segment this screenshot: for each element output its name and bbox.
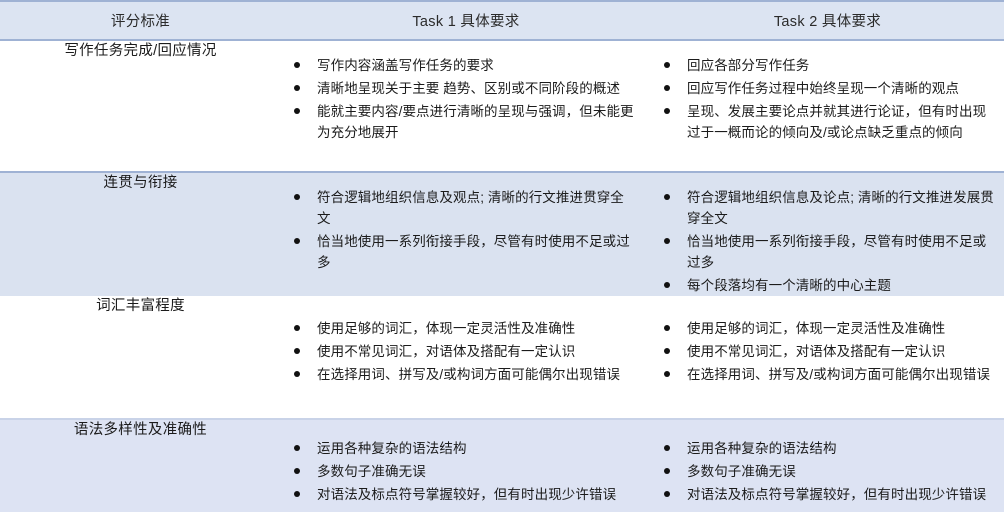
task1-bullet-list: 使用足够的词汇，体现一定灵活性及准确性 使用不常见词汇，对语体及搭配有一定认识 …	[289, 318, 637, 385]
list-item: 能就主要内容/要点进行清晰的呈现与强调，但未能更为充分地展开	[289, 101, 637, 143]
list-item: 使用不常见词汇，对语体及搭配有一定认识	[659, 341, 996, 362]
criteria-label: 写作任务完成/回应情况	[64, 41, 216, 61]
criteria-label: 词汇丰富程度	[96, 296, 185, 316]
task2-cell: 符合逻辑地组织信息及论点; 清晰的行文推进发展贯穿全文 恰当地使用一系列衔接手段…	[651, 173, 1004, 308]
list-item: 恰当地使用一系列衔接手段，尽管有时使用不足或过多	[659, 231, 996, 273]
task2-bullet-list: 符合逻辑地组织信息及论点; 清晰的行文推进发展贯穿全文 恰当地使用一系列衔接手段…	[659, 187, 996, 296]
list-item: 对语法及标点符号掌握较好，但有时出现少许错误	[659, 484, 996, 505]
list-item: 恰当地使用一系列衔接手段，尽管有时使用不足或过多	[289, 231, 637, 273]
header-label-criteria: 评分标准	[111, 10, 170, 31]
table-row: 连贯与衔接 符合逻辑地组织信息及观点; 清晰的行文推进贯穿全文 恰当地使用一系列…	[0, 171, 1004, 296]
table-row: 词汇丰富程度 使用足够的词汇，体现一定灵活性及准确性 使用不常见词汇，对语体及搭…	[0, 296, 1004, 418]
list-item: 清晰地呈现关于主要 趋势、区别或不同阶段的概述	[289, 78, 637, 99]
list-item: 在选择用词、拼写及/或构词方面可能偶尔出现错误	[289, 364, 637, 385]
list-item: 每个段落均有一个清晰的中心主题	[659, 275, 996, 296]
list-item: 使用足够的词汇，体现一定灵活性及准确性	[659, 318, 996, 339]
criteria-cell: 写作任务完成/回应情况	[0, 41, 281, 61]
list-item: 使用不常见词汇，对语体及搭配有一定认识	[289, 341, 637, 362]
list-item: 符合逻辑地组织信息及论点; 清晰的行文推进发展贯穿全文	[659, 187, 996, 229]
list-item: 回应各部分写作任务	[659, 55, 996, 76]
list-item: 回应写作任务过程中始终呈现一个清晰的观点	[659, 78, 996, 99]
list-item: 使用足够的词汇，体现一定灵活性及准确性	[289, 318, 637, 339]
list-item: 符合逻辑地组织信息及观点; 清晰的行文推进贯穿全文	[289, 187, 637, 229]
table-row: 写作任务完成/回应情况 写作内容涵盖写作任务的要求 清晰地呈现关于主要 趋势、区…	[0, 41, 1004, 171]
criteria-cell: 语法多样性及准确性	[0, 420, 281, 440]
header-label-task1: Task 1 具体要求	[412, 10, 519, 31]
list-item: 多数句子准确无误	[289, 461, 637, 482]
list-item: 运用各种复杂的语法结构	[289, 438, 637, 459]
list-item: 写作内容涵盖写作任务的要求	[289, 55, 637, 76]
list-item: 在选择用词、拼写及/或构词方面可能偶尔出现错误	[659, 364, 996, 385]
task1-bullet-list: 符合逻辑地组织信息及观点; 清晰的行文推进贯穿全文 恰当地使用一系列衔接手段，尽…	[289, 187, 637, 273]
criteria-label: 连贯与衔接	[104, 173, 178, 193]
task1-cell: 运用各种复杂的语法结构 多数句子准确无误 对语法及标点符号掌握较好，但有时出现少…	[281, 420, 651, 517]
task2-cell: 运用各种复杂的语法结构 多数句子准确无误 对语法及标点符号掌握较好，但有时出现少…	[651, 420, 1004, 517]
header-label-task2: Task 2 具体要求	[774, 10, 881, 31]
table-header-row: 评分标准 Task 1 具体要求 Task 2 具体要求	[0, 0, 1004, 41]
header-cell-task2: Task 2 具体要求	[651, 10, 1004, 31]
writing-rubric-table: 评分标准 Task 1 具体要求 Task 2 具体要求 写作任务完成/回应情况…	[0, 0, 1004, 512]
list-item: 运用各种复杂的语法结构	[659, 438, 996, 459]
task1-bullet-list: 运用各种复杂的语法结构 多数句子准确无误 对语法及标点符号掌握较好，但有时出现少…	[289, 438, 637, 505]
criteria-label: 语法多样性及准确性	[74, 420, 207, 440]
task2-bullet-list: 运用各种复杂的语法结构 多数句子准确无误 对语法及标点符号掌握较好，但有时出现少…	[659, 438, 996, 505]
task2-cell: 使用足够的词汇，体现一定灵活性及准确性 使用不常见词汇，对语体及搭配有一定认识 …	[651, 296, 1004, 397]
criteria-cell: 词汇丰富程度	[0, 296, 281, 316]
list-item: 呈现、发展主要论点并就其进行论证，但有时出现过于一概而论的倾向及/或论点缺乏重点…	[659, 101, 996, 143]
task1-cell: 使用足够的词汇，体现一定灵活性及准确性 使用不常见词汇，对语体及搭配有一定认识 …	[281, 296, 651, 397]
header-cell-criteria: 评分标准	[0, 10, 281, 31]
task2-bullet-list: 使用足够的词汇，体现一定灵活性及准确性 使用不常见词汇，对语体及搭配有一定认识 …	[659, 318, 996, 385]
task1-bullet-list: 写作内容涵盖写作任务的要求 清晰地呈现关于主要 趋势、区别或不同阶段的概述 能就…	[289, 55, 637, 143]
table-row: 语法多样性及准确性 运用各种复杂的语法结构 多数句子准确无误 对语法及标点符号掌…	[0, 418, 1004, 512]
task2-cell: 回应各部分写作任务 回应写作任务过程中始终呈现一个清晰的观点 呈现、发展主要论点…	[651, 41, 1004, 155]
task2-bullet-list: 回应各部分写作任务 回应写作任务过程中始终呈现一个清晰的观点 呈现、发展主要论点…	[659, 55, 996, 143]
task1-cell: 写作内容涵盖写作任务的要求 清晰地呈现关于主要 趋势、区别或不同阶段的概述 能就…	[281, 41, 651, 155]
task1-cell: 符合逻辑地组织信息及观点; 清晰的行文推进贯穿全文 恰当地使用一系列衔接手段，尽…	[281, 173, 651, 285]
criteria-cell: 连贯与衔接	[0, 173, 281, 193]
list-item: 多数句子准确无误	[659, 461, 996, 482]
list-item: 对语法及标点符号掌握较好，但有时出现少许错误	[289, 484, 637, 505]
header-cell-task1: Task 1 具体要求	[281, 10, 651, 31]
